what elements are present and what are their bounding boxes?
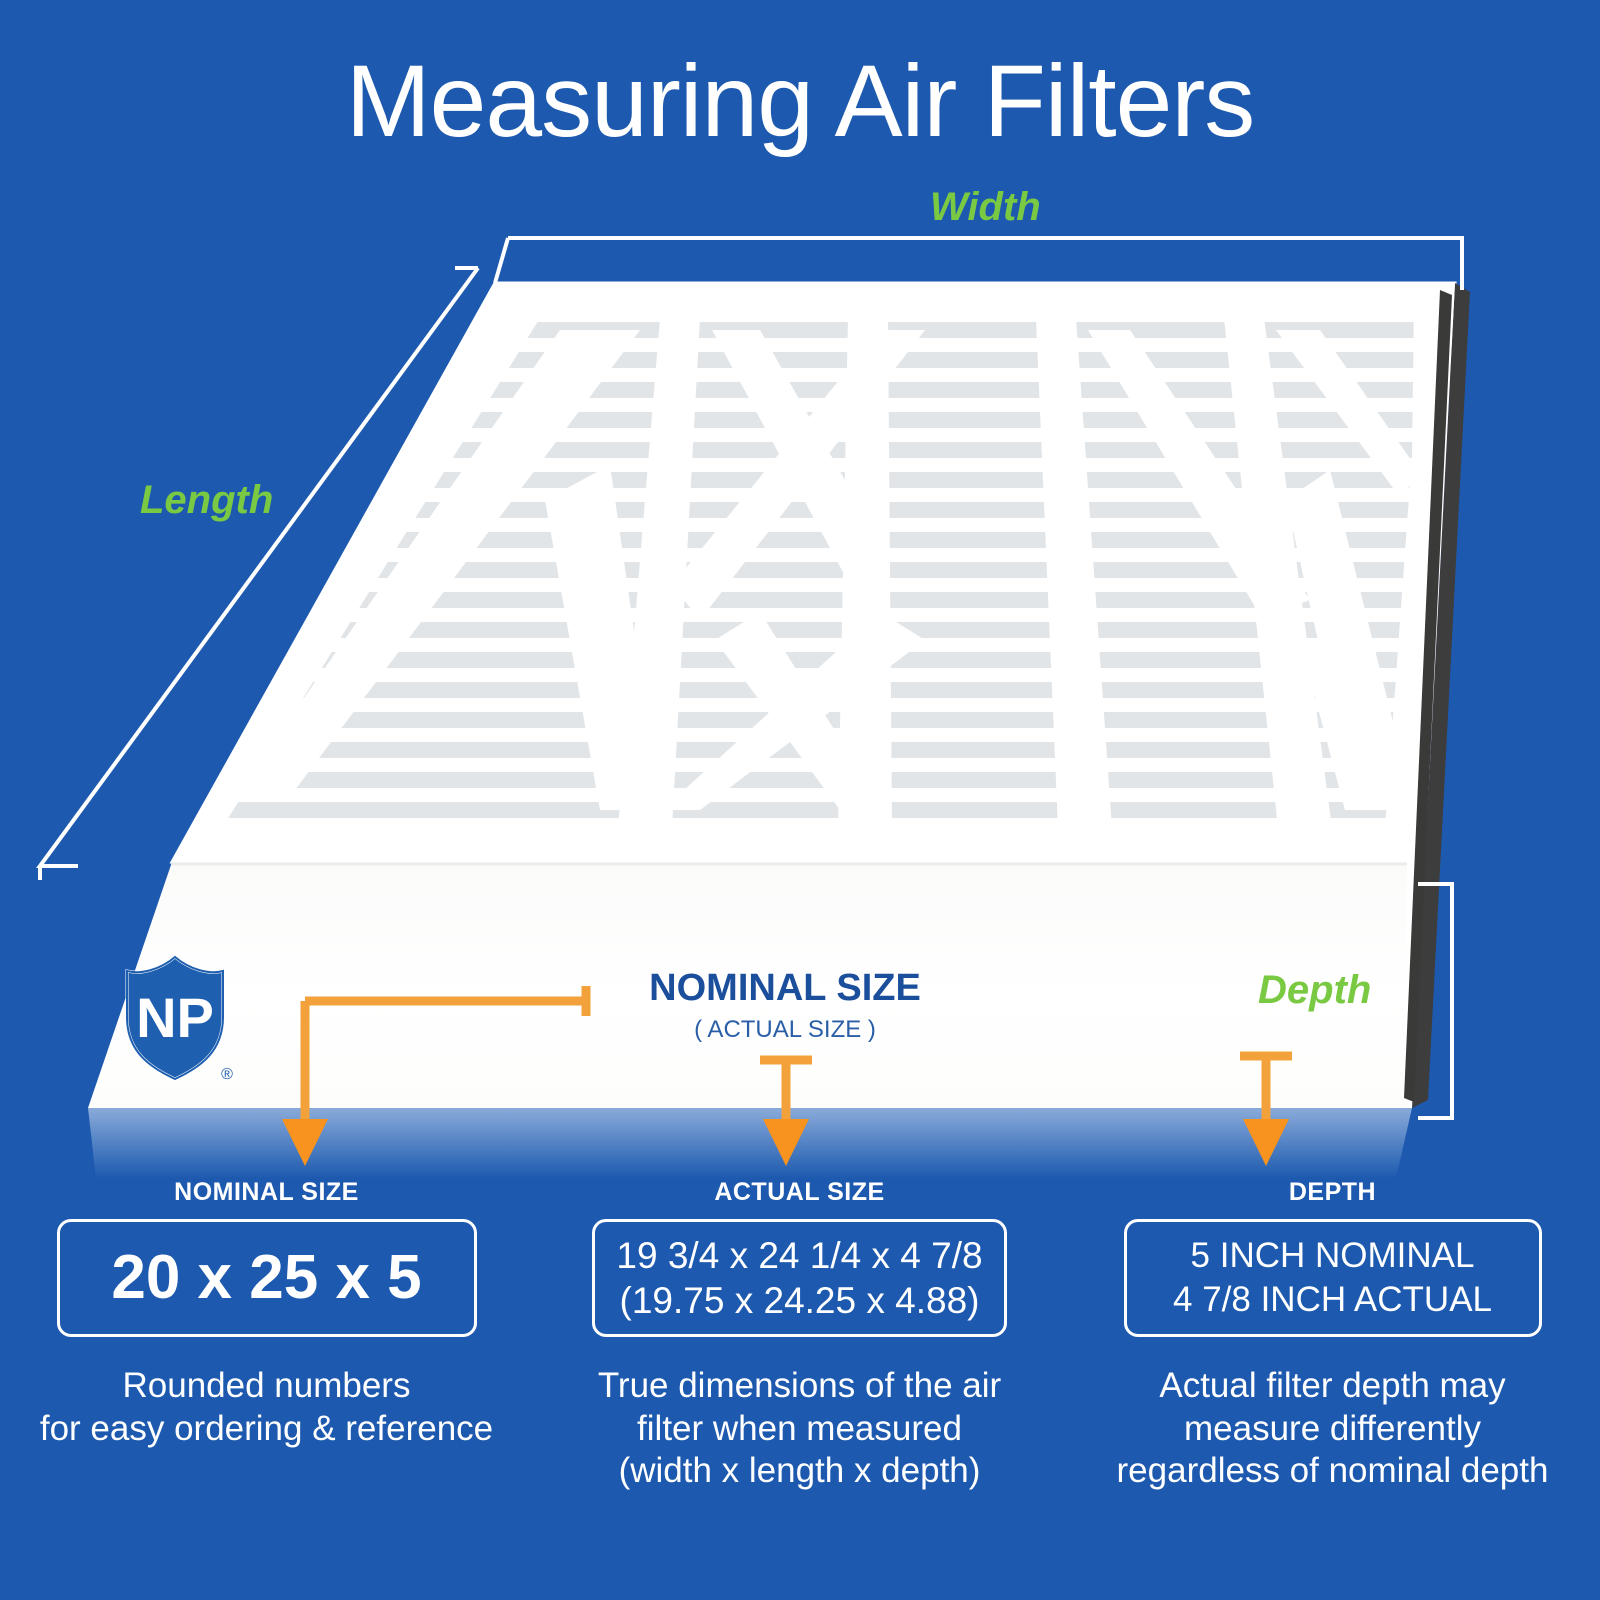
- filter-top-face: [100, 283, 1520, 863]
- caption-line: regardless of nominal depth: [1117, 1450, 1549, 1493]
- column-depth: DEPTH 5 INCH NOMINAL 4 7/8 INCH ACTUAL A…: [1066, 1178, 1599, 1493]
- nominal-size-box: 20 x 25 x 5: [57, 1219, 477, 1337]
- filter-pleats: [100, 283, 1520, 863]
- filter-right-edge: [1404, 283, 1470, 1108]
- column-nominal-size: NOMINAL SIZE 20 x 25 x 5 Rounded numbers…: [0, 1178, 533, 1493]
- column-caption: True dimensions of the air filter when m…: [598, 1365, 1001, 1493]
- column-heading: ACTUAL SIZE: [714, 1178, 884, 1207]
- column-caption: Rounded numbers for easy ordering & refe…: [40, 1365, 493, 1450]
- nominal-size-value: 20 x 25 x 5: [60, 1247, 474, 1309]
- column-actual-size: ACTUAL SIZE 19 3/4 x 24 1/4 x 4 7/8 (19.…: [533, 1178, 1066, 1493]
- np-logo-letters: NP: [136, 986, 214, 1049]
- column-caption: Actual filter depth may measure differen…: [1117, 1365, 1549, 1493]
- filter-reflection: [88, 1108, 1412, 1178]
- caption-line: True dimensions of the air: [598, 1365, 1001, 1408]
- length-label: Length: [140, 478, 273, 523]
- summary-columns: NOMINAL SIZE 20 x 25 x 5 Rounded numbers…: [0, 1178, 1600, 1493]
- actual-size-fraction: 19 3/4 x 24 1/4 x 4 7/8: [603, 1233, 996, 1278]
- caption-line: Rounded numbers: [40, 1365, 493, 1408]
- caption-line: Actual filter depth may: [1117, 1365, 1549, 1408]
- infographic-canvas: Measuring Air Filters: [0, 0, 1600, 1600]
- callout-actual-size: ( ACTUAL SIZE ): [694, 1016, 876, 1043]
- depth-nominal-value: 5 INCH NOMINAL: [1135, 1234, 1531, 1278]
- width-label: Width: [930, 185, 1041, 230]
- caption-line: measure differently: [1117, 1408, 1549, 1451]
- depth-actual-value: 4 7/8 INCH ACTUAL: [1135, 1278, 1531, 1322]
- caption-line: filter when measured: [598, 1408, 1001, 1451]
- depth-box: 5 INCH NOMINAL 4 7/8 INCH ACTUAL: [1124, 1219, 1542, 1337]
- np-logo-trademark: ®: [221, 1066, 233, 1083]
- caption-line: for easy ordering & reference: [40, 1408, 493, 1451]
- column-heading: DEPTH: [1289, 1178, 1376, 1207]
- column-heading: NOMINAL SIZE: [174, 1178, 359, 1207]
- actual-size-box: 19 3/4 x 24 1/4 x 4 7/8 (19.75 x 24.25 x…: [592, 1219, 1007, 1337]
- caption-line: (width x length x depth): [598, 1450, 1001, 1493]
- depth-label: Depth: [1258, 968, 1371, 1013]
- actual-size-decimal: (19.75 x 24.25 x 4.88): [603, 1278, 996, 1323]
- callout-nominal-size: NOMINAL SIZE: [649, 967, 921, 1009]
